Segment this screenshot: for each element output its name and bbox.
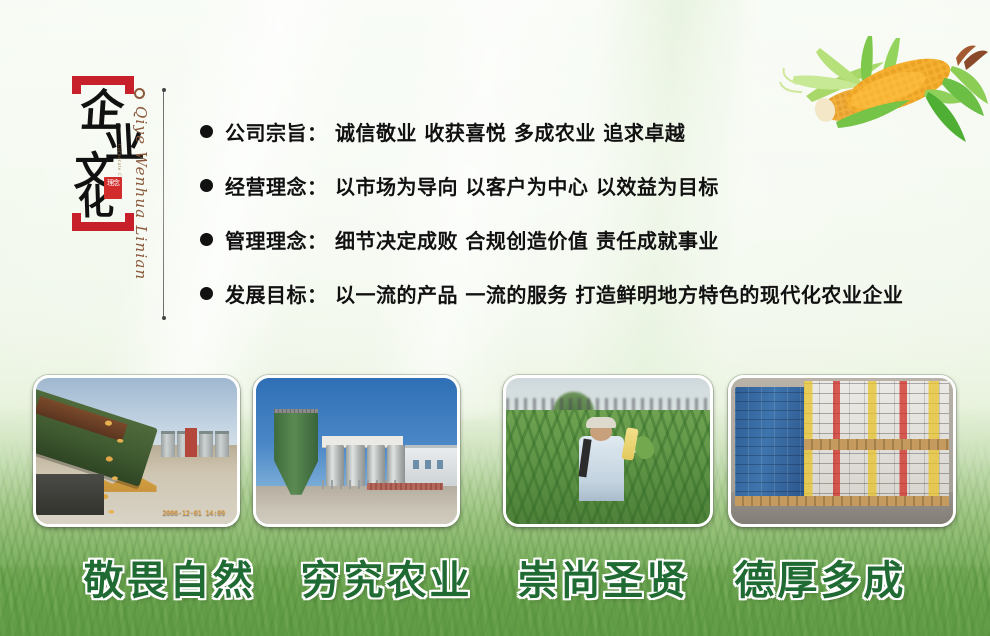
page-title: 企 业 文 化	[74, 88, 132, 220]
photo4-pallet	[804, 439, 948, 449]
bullet-dot-icon	[200, 125, 213, 138]
pinyin-text: Qiye Wenhua Linian	[132, 106, 150, 280]
section-title-block: 企 业 文 化 Corporate Culture 理念	[72, 76, 134, 231]
slogan-part-1: 敬畏自然	[84, 557, 256, 604]
culture-statement-list: 公司宗旨： 诚信敬业 收获喜悦 多成农业 追求卓越 经营理念： 以市场为导向 以…	[200, 104, 970, 320]
slogan-part-2: 穷究农业	[301, 557, 473, 604]
photo4-pallet	[735, 496, 948, 506]
list-item: 管理理念： 细节决定成败 合规创造价值 责任成就事业	[200, 212, 970, 266]
photo2-ground	[256, 486, 457, 524]
slogan-part-4: 德厚多成	[734, 557, 906, 604]
photo3-person-cap	[586, 417, 617, 427]
photo-warehouse-stacked-bags[interactable]	[728, 375, 956, 527]
list-item: 发展目标： 以一流的产品 一流的服务 打造鲜明地方特色的现代化农业企业	[200, 266, 970, 320]
photo1-silo	[161, 431, 175, 457]
list-item-text: 管理理念： 细节决定成败 合规创造价值 责任成就事业	[225, 225, 719, 254]
circle-icon	[134, 88, 145, 99]
photo1-camera-timestamp: 2006-12-01 14:09	[162, 509, 225, 517]
photo1-silo	[199, 431, 213, 457]
photo2-window	[413, 460, 419, 469]
company-culture-poster: 企 业 文 化 Corporate Culture 理念 Qiye Wenhua…	[0, 0, 990, 636]
photo-strip: 2006-12-01 14:09	[0, 375, 990, 530]
photo4-blue-bag-stack	[735, 387, 806, 501]
list-item-text: 经营理念： 以市场为导向 以客户为中心 以效益为目标	[225, 171, 719, 200]
vertical-divider	[163, 90, 164, 318]
photo1-red-tank	[185, 428, 197, 457]
list-item-text: 发展目标： 以一流的产品 一流的服务 打造鲜明地方特色的现代化农业企业	[225, 279, 903, 308]
bullet-dot-icon	[200, 287, 213, 300]
photo-grain-silo-facility[interactable]	[253, 375, 460, 527]
photo2-brick-stack	[367, 483, 443, 490]
photo-farmer-in-corn-field[interactable]	[503, 375, 713, 527]
photo1-silo	[215, 431, 229, 457]
red-seal-stamp: 理念	[104, 177, 122, 199]
photo1-foreground-bales	[36, 474, 104, 515]
list-item: 公司宗旨： 诚信敬业 收获喜悦 多成农业 追求卓越	[200, 104, 970, 158]
list-item-text: 公司宗旨： 诚信敬业 收获喜悦 多成农业 追求卓越	[225, 117, 685, 146]
list-item: 经营理念： 以市场为导向 以客户为中心 以效益为目标	[200, 158, 970, 212]
photo2-window	[425, 460, 431, 469]
bottom-slogan: 敬畏自然 穷究农业 崇尚圣贤 德厚多成	[0, 548, 990, 606]
bullet-dot-icon	[200, 233, 213, 246]
bullet-dot-icon	[200, 179, 213, 192]
slogan-part-3: 崇尚圣贤	[517, 557, 689, 604]
photo-corn-conveyor-yard[interactable]: 2006-12-01 14:09	[33, 375, 240, 527]
photo2-window	[437, 460, 443, 469]
